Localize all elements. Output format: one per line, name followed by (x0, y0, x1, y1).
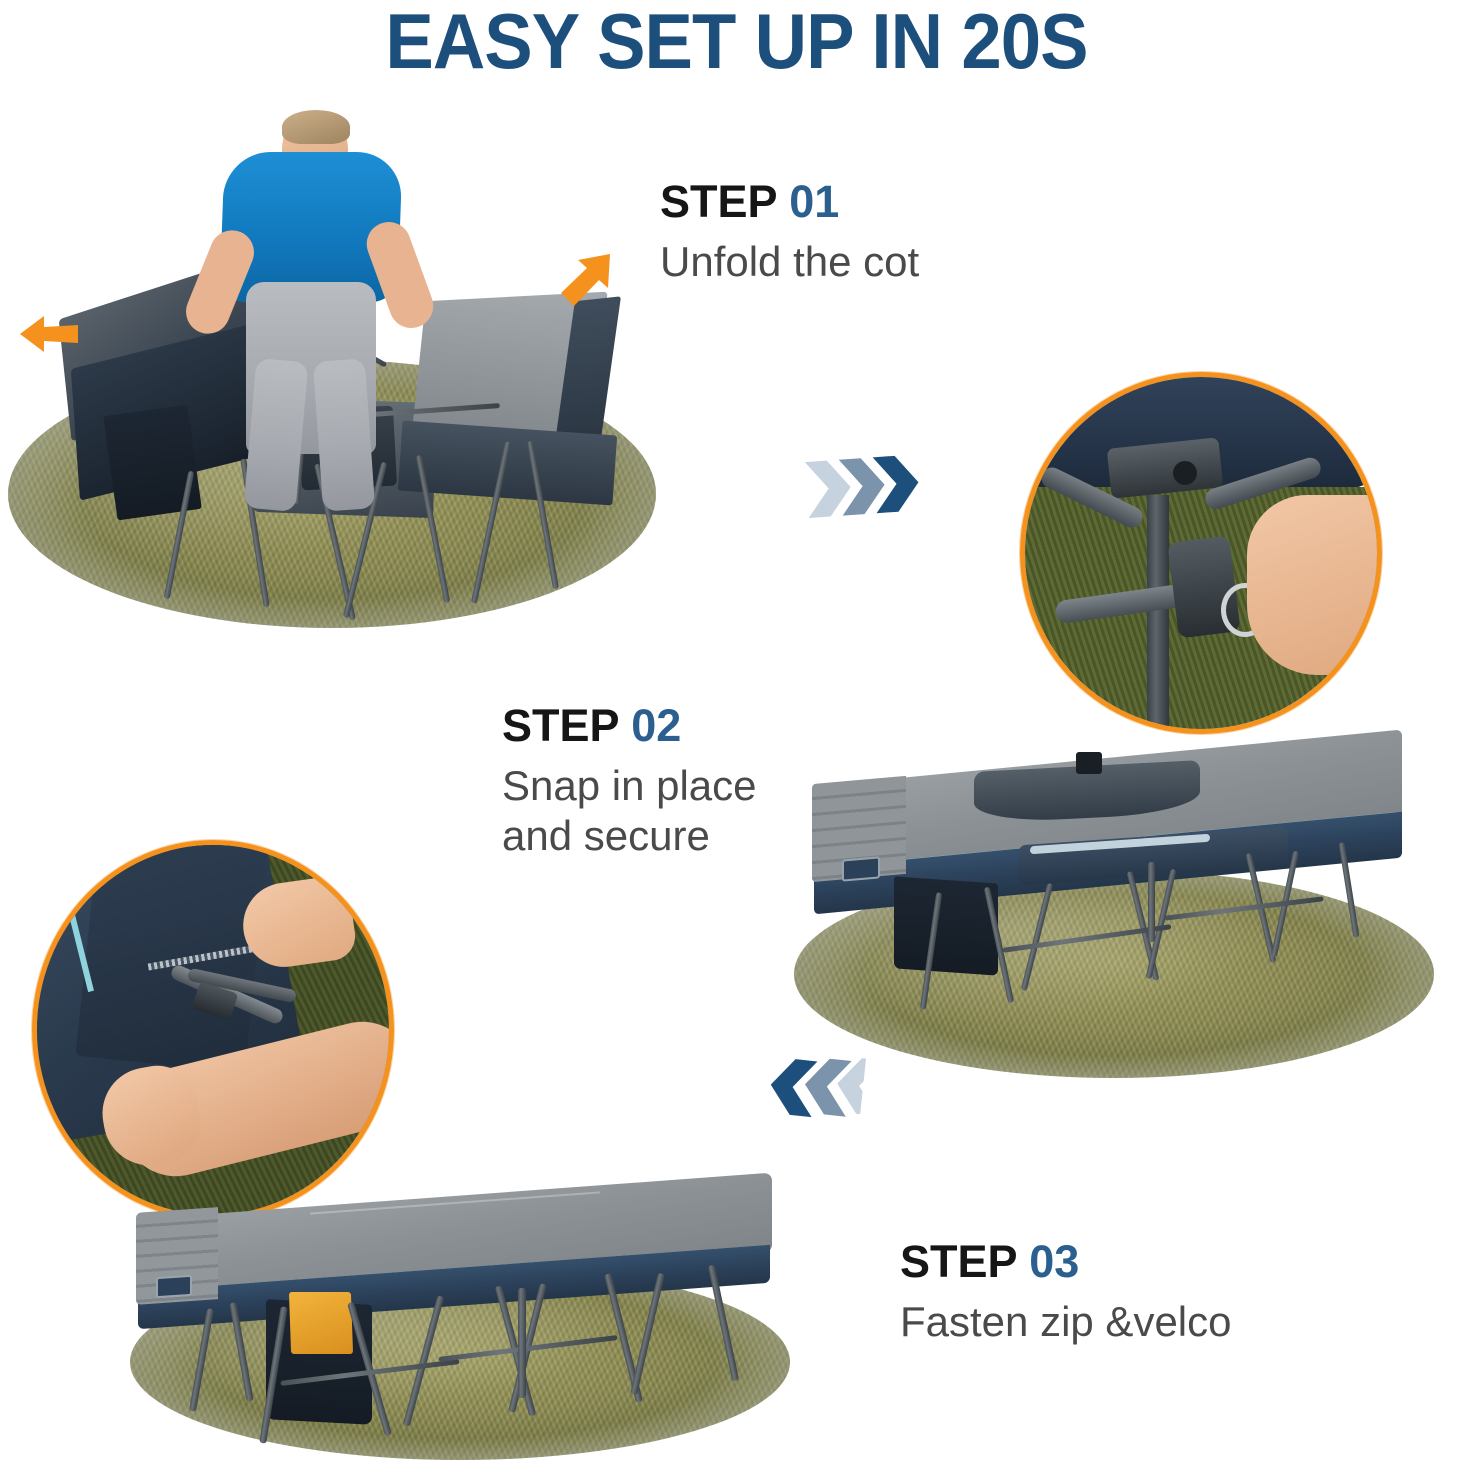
cot-center-post (518, 1288, 526, 1398)
step2-photo (790, 740, 1450, 1085)
brand-logo-tab (842, 856, 880, 881)
step1-photo (0, 110, 680, 630)
step-1-label: STEP (660, 176, 777, 227)
cot-toggle-strap (1076, 752, 1102, 774)
person (150, 110, 470, 440)
inset-frame-hinge (1020, 372, 1382, 734)
step-2-line-1: Snap in place (502, 761, 757, 811)
cot-vertical-post (1147, 495, 1169, 734)
cot-center-post (1148, 862, 1155, 942)
step3-photo (120, 1180, 820, 1470)
chevron-right-group (802, 448, 927, 535)
step-1-line-1: Unfold the cot (660, 237, 919, 287)
step-3-heading: STEP 03 (900, 1238, 1232, 1285)
step-2-number: 02 (631, 700, 681, 751)
instruction-card (289, 1292, 353, 1354)
orange-arrow-up-right (548, 248, 620, 314)
step-1-description: Unfold the cot (660, 237, 919, 287)
step-3-line-1: Fasten zip &velco (900, 1297, 1232, 1347)
orange-arrow-left (14, 306, 84, 362)
brand-logo-tab (156, 1275, 192, 1299)
step-2-line-2: and secure (502, 811, 757, 861)
step-3-label: STEP (900, 1236, 1017, 1287)
step-2-text: STEP 02 Snap in place and secure (502, 702, 757, 860)
page-title: EASY SET UP IN 20S (52, 2, 1422, 80)
chevron-left-group (738, 1046, 866, 1141)
person-leg (313, 358, 375, 511)
step-2-label: STEP (502, 700, 619, 751)
step-1-text: STEP 01 Unfold the cot (660, 178, 919, 287)
step-3-description: Fasten zip &velco (900, 1297, 1232, 1347)
step-1-heading: STEP 01 (660, 178, 919, 225)
step-1-number: 01 (789, 176, 839, 227)
step-2-heading: STEP 02 (502, 702, 757, 749)
step-3-number: 03 (1029, 1236, 1079, 1287)
step-3-text: STEP 03 Fasten zip &velco (900, 1238, 1232, 1347)
inset-fabric-flap (75, 840, 268, 1073)
hinge-hole (1173, 461, 1197, 485)
inset-zip-closeup (32, 840, 394, 1220)
step-2-description: Snap in place and secure (502, 761, 757, 860)
person-hair (282, 110, 350, 144)
cot-side-pocket (894, 876, 998, 975)
hand (1247, 495, 1382, 675)
